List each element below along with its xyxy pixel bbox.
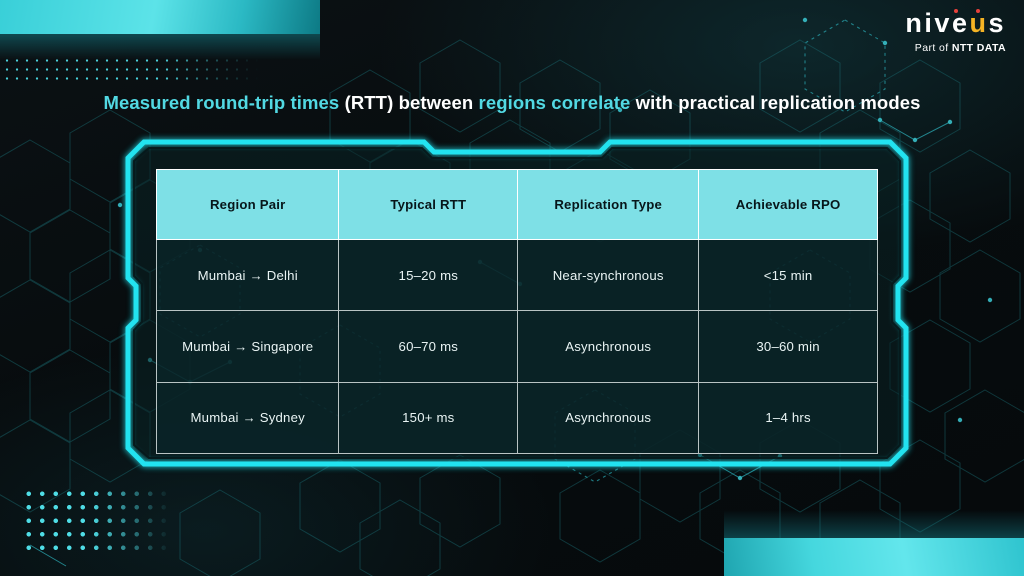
top-left-accent-band [0, 0, 320, 34]
table-body: Mumbai → Delhi 15–20 ms Near-synchronous… [157, 240, 878, 454]
top-dot-grid [2, 56, 260, 82]
logo-tagline: Part of NTT DATA [905, 43, 1006, 54]
column-header-typical-rtt: Typical RTT [339, 170, 518, 240]
cell-achievable-rpo: <15 min [699, 240, 878, 311]
bottom-right-accent-band [724, 538, 1024, 576]
table-header-row: Region Pair Typical RTT Replication Type… [157, 170, 878, 240]
table-row: Mumbai → Delhi 15–20 ms Near-synchronous… [157, 240, 878, 311]
cell-typical-rtt: 150+ ms [339, 382, 518, 453]
headline-segment-4: with practical replication modes [630, 92, 920, 113]
column-header-region-pair: Region Pair [157, 170, 339, 240]
column-header-replication-type: Replication Type [518, 170, 699, 240]
logo-tagline-bold: NTT DATA [952, 42, 1006, 54]
headline-segment-1: Measured round-trip times [103, 92, 344, 113]
bottom-dot-grid [22, 487, 172, 557]
table-row: Mumbai → Sydney 150+ ms Asynchronous 1–4… [157, 382, 878, 453]
headline-segment-2: (RTT) between [345, 92, 479, 113]
slide-canvas: niveus Part of NTT DATA Measured round-t… [0, 0, 1024, 576]
cell-region-pair: Mumbai → Sydney [157, 382, 339, 453]
cell-typical-rtt: 15–20 ms [339, 240, 518, 311]
cell-typical-rtt: 60–70 ms [339, 311, 518, 382]
logo-wordmark: niveus [905, 10, 1006, 37]
cell-region-pair: Mumbai → Singapore [157, 311, 339, 382]
niveus-logo: niveus Part of NTT DATA [905, 10, 1006, 54]
cell-replication-type: Asynchronous [518, 382, 699, 453]
cell-replication-type: Asynchronous [518, 311, 699, 382]
slide-headline: Measured round-trip times (RTT) between … [0, 92, 1024, 114]
column-header-achievable-rpo: Achievable RPO [699, 170, 878, 240]
cell-replication-type: Near-synchronous [518, 240, 699, 311]
table-header: Region Pair Typical RTT Replication Type… [157, 170, 878, 240]
cell-region-pair: Mumbai → Delhi [157, 240, 339, 311]
table-row: Mumbai → Singapore 60–70 ms Asynchronous… [157, 311, 878, 382]
cell-achievable-rpo: 1–4 hrs [699, 382, 878, 453]
headline-segment-3: regions correlate [479, 92, 631, 113]
cell-achievable-rpo: 30–60 min [699, 311, 878, 382]
rtt-replication-table: Region Pair Typical RTT Replication Type… [156, 169, 878, 454]
logo-tagline-prefix: Part of [915, 42, 952, 54]
comparison-table-container: Region Pair Typical RTT Replication Type… [156, 169, 878, 454]
